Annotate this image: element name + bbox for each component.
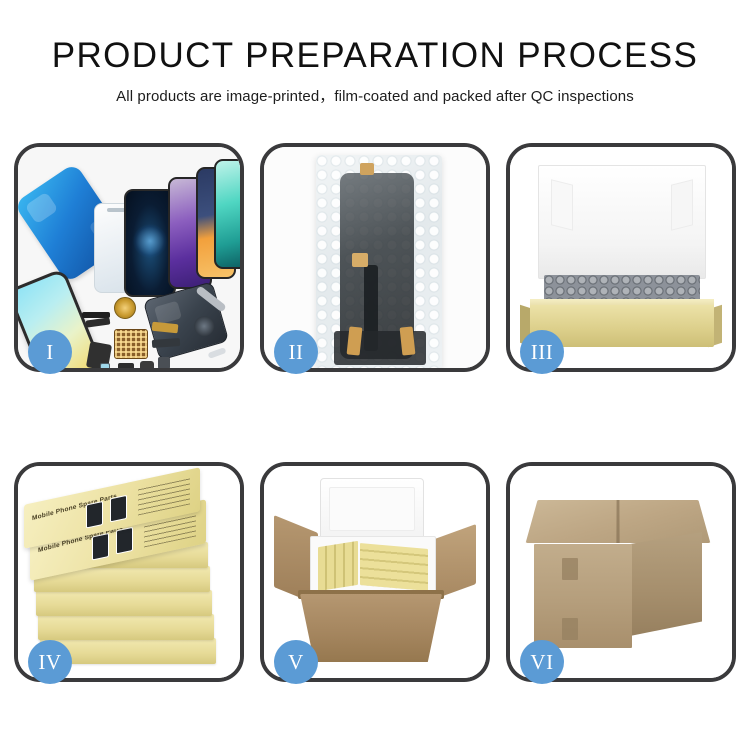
small-component-icon-2 [140, 361, 154, 368]
teal-phone-icon [214, 159, 240, 269]
tape-strip-icon-4 [400, 326, 416, 355]
box-artwork-thumb-1 [86, 501, 103, 529]
process-step-panel-2: II [260, 143, 490, 372]
page-title: PRODUCT PREPARATION PROCESS [0, 38, 750, 75]
box-artwork-thumb-4 [116, 527, 133, 555]
tape-strip-icon-2 [352, 253, 368, 267]
white-foam-lid-icon [538, 165, 706, 279]
step-badge-1: I [28, 330, 72, 374]
page-subtitle: All products are image-printed，film-coat… [0, 85, 750, 106]
carton-tape-icon-1 [562, 558, 578, 580]
process-step-panel-3: III [506, 143, 736, 372]
carton-side-face [630, 532, 702, 636]
camera-module-icon [100, 363, 110, 368]
small-component-icon-1 [118, 363, 134, 368]
speaker-coil-icon [114, 297, 136, 319]
product-preparation-page: PRODUCT PREPARATION PROCESS All products… [0, 0, 750, 750]
process-step-grid: I II [14, 143, 736, 682]
process-step-panel-4: Mobile Phone Spare Parts Mobile Phone Sp… [14, 462, 244, 682]
box-spec-text-lines-1 [138, 476, 190, 515]
step-badge-2: II [274, 330, 318, 374]
box-artwork-thumb-2 [110, 495, 127, 523]
step-badge-6: VI [520, 640, 564, 684]
small-component-icon-3 [158, 357, 170, 368]
step-badge-4: IV [28, 640, 72, 684]
process-step-panel-1: I [14, 143, 244, 372]
tape-strip-icon-1 [360, 163, 374, 175]
lid-flap-left-shape [551, 179, 573, 230]
stacked-box-layer-3 [36, 590, 212, 616]
process-step-panel-5: V [260, 462, 490, 682]
carton-tape-icon-2 [562, 618, 578, 640]
page-header: PRODUCT PREPARATION PROCESS All products… [0, 38, 750, 106]
bubble-wrap-bag-icon [316, 155, 442, 368]
step-badge-5: V [274, 640, 318, 684]
carton-front-face [534, 544, 632, 648]
stacked-box-layer-4 [38, 614, 214, 640]
packed-retail-boxes-left [318, 541, 358, 591]
box-artwork-thumb-3 [92, 533, 109, 561]
packed-retail-boxes-right [360, 543, 428, 591]
master-carton-body-icon [300, 594, 442, 662]
chip-board-icon [114, 329, 148, 359]
retail-box-label-1: Mobile Phone Spare Parts [32, 493, 117, 522]
process-step-panel-6: VI [506, 462, 736, 682]
step-badge-3: III [520, 330, 564, 374]
lid-flap-right-shape [671, 179, 693, 230]
styrofoam-lid-icon [320, 478, 424, 540]
